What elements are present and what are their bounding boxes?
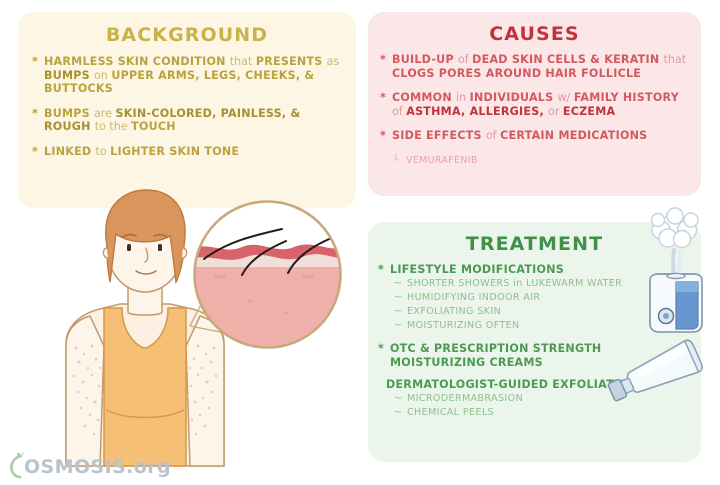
bullet-marker: *	[32, 55, 44, 69]
tube-body	[604, 339, 704, 408]
text-segment: are	[94, 107, 115, 120]
text-segment: or	[548, 105, 563, 118]
right-eye	[158, 244, 162, 251]
bullet-item: *SIDE EFFECTS of CERTAIN MEDICATIONS	[380, 129, 692, 143]
sub-item-marker: ~	[394, 278, 407, 291]
bullet-marker: *	[32, 145, 44, 159]
background-bullet-list: *HARMLESS SKIN CONDITION that PRESENTS a…	[32, 55, 340, 159]
text-segment: PRESENTS	[256, 55, 327, 68]
humidifier-body	[650, 273, 702, 332]
text-segment: TOUCH	[131, 120, 176, 133]
bullet-label: LINKED to LIGHTER SKIN TONE	[44, 145, 340, 159]
bullet-marker: *	[380, 91, 392, 105]
bullet-label: SIDE EFFECTS of CERTAIN MEDICATIONS	[392, 129, 692, 143]
osmosis-logo: OSMOSIS.org	[8, 452, 168, 478]
bullet-item: *HARMLESS SKIN CONDITION that PRESENTS a…	[32, 55, 340, 96]
bullet-item: *BUILD-UP of DEAD SKIN CELLS & KERATIN t…	[380, 53, 692, 80]
text-segment: LINKED	[44, 145, 95, 158]
panel-causes: CAUSES *BUILD-UP of DEAD SKIN CELLS & KE…	[368, 12, 701, 196]
text-segment: ASTHMA, ALLERGIES,	[406, 105, 548, 118]
text-segment: in	[456, 91, 470, 104]
text-segment: SIDE EFFECTS	[392, 129, 486, 142]
text-segment: of	[392, 105, 406, 118]
sub-item-label: VEMURAFENIB	[406, 154, 692, 168]
bullet-item: *COMMON in INDIVIDUALS w/ FAMILY HISTORY…	[380, 91, 692, 118]
text-segment: BUMPS	[44, 107, 94, 120]
sub-item-marker: ~	[394, 292, 407, 305]
text-segment: of	[486, 129, 500, 142]
sub-item-label: CHEMICAL PEELS	[407, 407, 692, 420]
left-eye	[127, 244, 131, 251]
bullet-marker: *	[380, 129, 392, 143]
text-segment: HARMLESS SKIN CONDITION	[44, 55, 230, 68]
text-segment: that	[230, 55, 256, 68]
infographic-canvas: BACKGROUND *HARMLESS SKIN CONDITION that…	[0, 0, 720, 485]
bullet-item: *LINKED to LIGHTER SKIN TONE	[32, 145, 340, 159]
text-segment: BUMPS	[44, 69, 94, 82]
text-segment: DEAD SKIN CELLS & KERATIN	[472, 53, 663, 66]
bullet-label: BUMPS are SKIN-COLORED, PAINLESS, & ROUG…	[44, 107, 340, 134]
sub-item-marker: ~	[394, 393, 407, 406]
text-segment: CERTAIN MEDICATIONS	[500, 129, 647, 142]
bullet-block: *COMMON in INDIVIDUALS w/ FAMILY HISTORY…	[380, 91, 692, 118]
bullet-marker: *	[378, 263, 390, 277]
logo-text: OSMOSIS.org	[24, 456, 171, 478]
panel-background: BACKGROUND *HARMLESS SKIN CONDITION that…	[18, 12, 356, 208]
text-segment: to the	[95, 120, 131, 133]
logo-arc	[11, 456, 21, 477]
cream-tube-icon	[600, 344, 710, 406]
text-segment: as	[327, 55, 340, 68]
bullet-block: *BUILD-UP of DEAD SKIN CELLS & KERATIN t…	[380, 53, 692, 80]
bullet-block: *HARMLESS SKIN CONDITION that PRESENTS a…	[32, 55, 340, 96]
logo-dot-b	[22, 452, 24, 454]
text-segment: of	[458, 53, 472, 66]
text-segment: to	[95, 145, 110, 158]
logo-dot-a	[17, 453, 20, 456]
text-segment: CLOGS PORES AROUND HAIR FOLLICLE	[392, 67, 641, 80]
text-segment: that	[664, 53, 687, 66]
sub-item: ~CHEMICAL PEELS	[394, 407, 692, 420]
text-segment: ECZEMA	[563, 105, 615, 118]
bullet-block: *LINKED to LIGHTER SKIN TONE	[32, 145, 340, 159]
magnified-skin-circle	[190, 197, 345, 352]
text-segment: COMMON	[392, 91, 456, 104]
sub-item: └VEMURAFENIB	[393, 154, 692, 168]
text-segment: INDIVIDUALS	[470, 91, 558, 104]
sub-item-marker: ~	[394, 407, 407, 420]
bullet-label: COMMON in INDIVIDUALS w/ FAMILY HISTORY …	[392, 91, 692, 118]
panel-causes-heading: CAUSES	[368, 23, 701, 45]
bullet-label: BUILD-UP of DEAD SKIN CELLS & KERATIN th…	[392, 53, 692, 80]
text-segment: LIGHTER SKIN TONE	[110, 145, 239, 158]
text-segment: LIFESTYLE MODIFICATIONS	[390, 263, 564, 276]
text-segment: BUILD-UP	[392, 53, 458, 66]
text-segment: on	[94, 69, 111, 82]
steam-cloud	[652, 208, 699, 248]
text-segment: w/	[557, 91, 573, 104]
causes-bullet-list: *BUILD-UP of DEAD SKIN CELLS & KERATIN t…	[380, 53, 692, 168]
bullet-label: HARMLESS SKIN CONDITION that PRESENTS as…	[44, 55, 340, 96]
humidifier-icon	[632, 206, 718, 336]
sub-item-marker: ~	[394, 320, 407, 333]
bullet-item: *BUMPS are SKIN-COLORED, PAINLESS, & ROU…	[32, 107, 340, 134]
text-segment: OTC & PRESCRIPTION STRENGTH MOISTURIZING…	[390, 342, 601, 369]
bullet-marker: *	[378, 342, 390, 356]
steam-stream	[673, 250, 674, 276]
bullet-block: *SIDE EFFECTS of CERTAIN MEDICATIONS└VEM…	[380, 129, 692, 167]
left-arm	[66, 316, 104, 466]
bullet-marker: *	[380, 53, 392, 67]
sub-item-marker: └	[393, 154, 406, 168]
text-segment: FAMILY HISTORY	[574, 91, 679, 104]
sub-item-marker: ~	[394, 306, 407, 319]
bullet-marker: *	[32, 107, 44, 121]
bullet-block: *BUMPS are SKIN-COLORED, PAINLESS, & ROU…	[32, 107, 340, 134]
panel-background-heading: BACKGROUND	[18, 24, 356, 46]
